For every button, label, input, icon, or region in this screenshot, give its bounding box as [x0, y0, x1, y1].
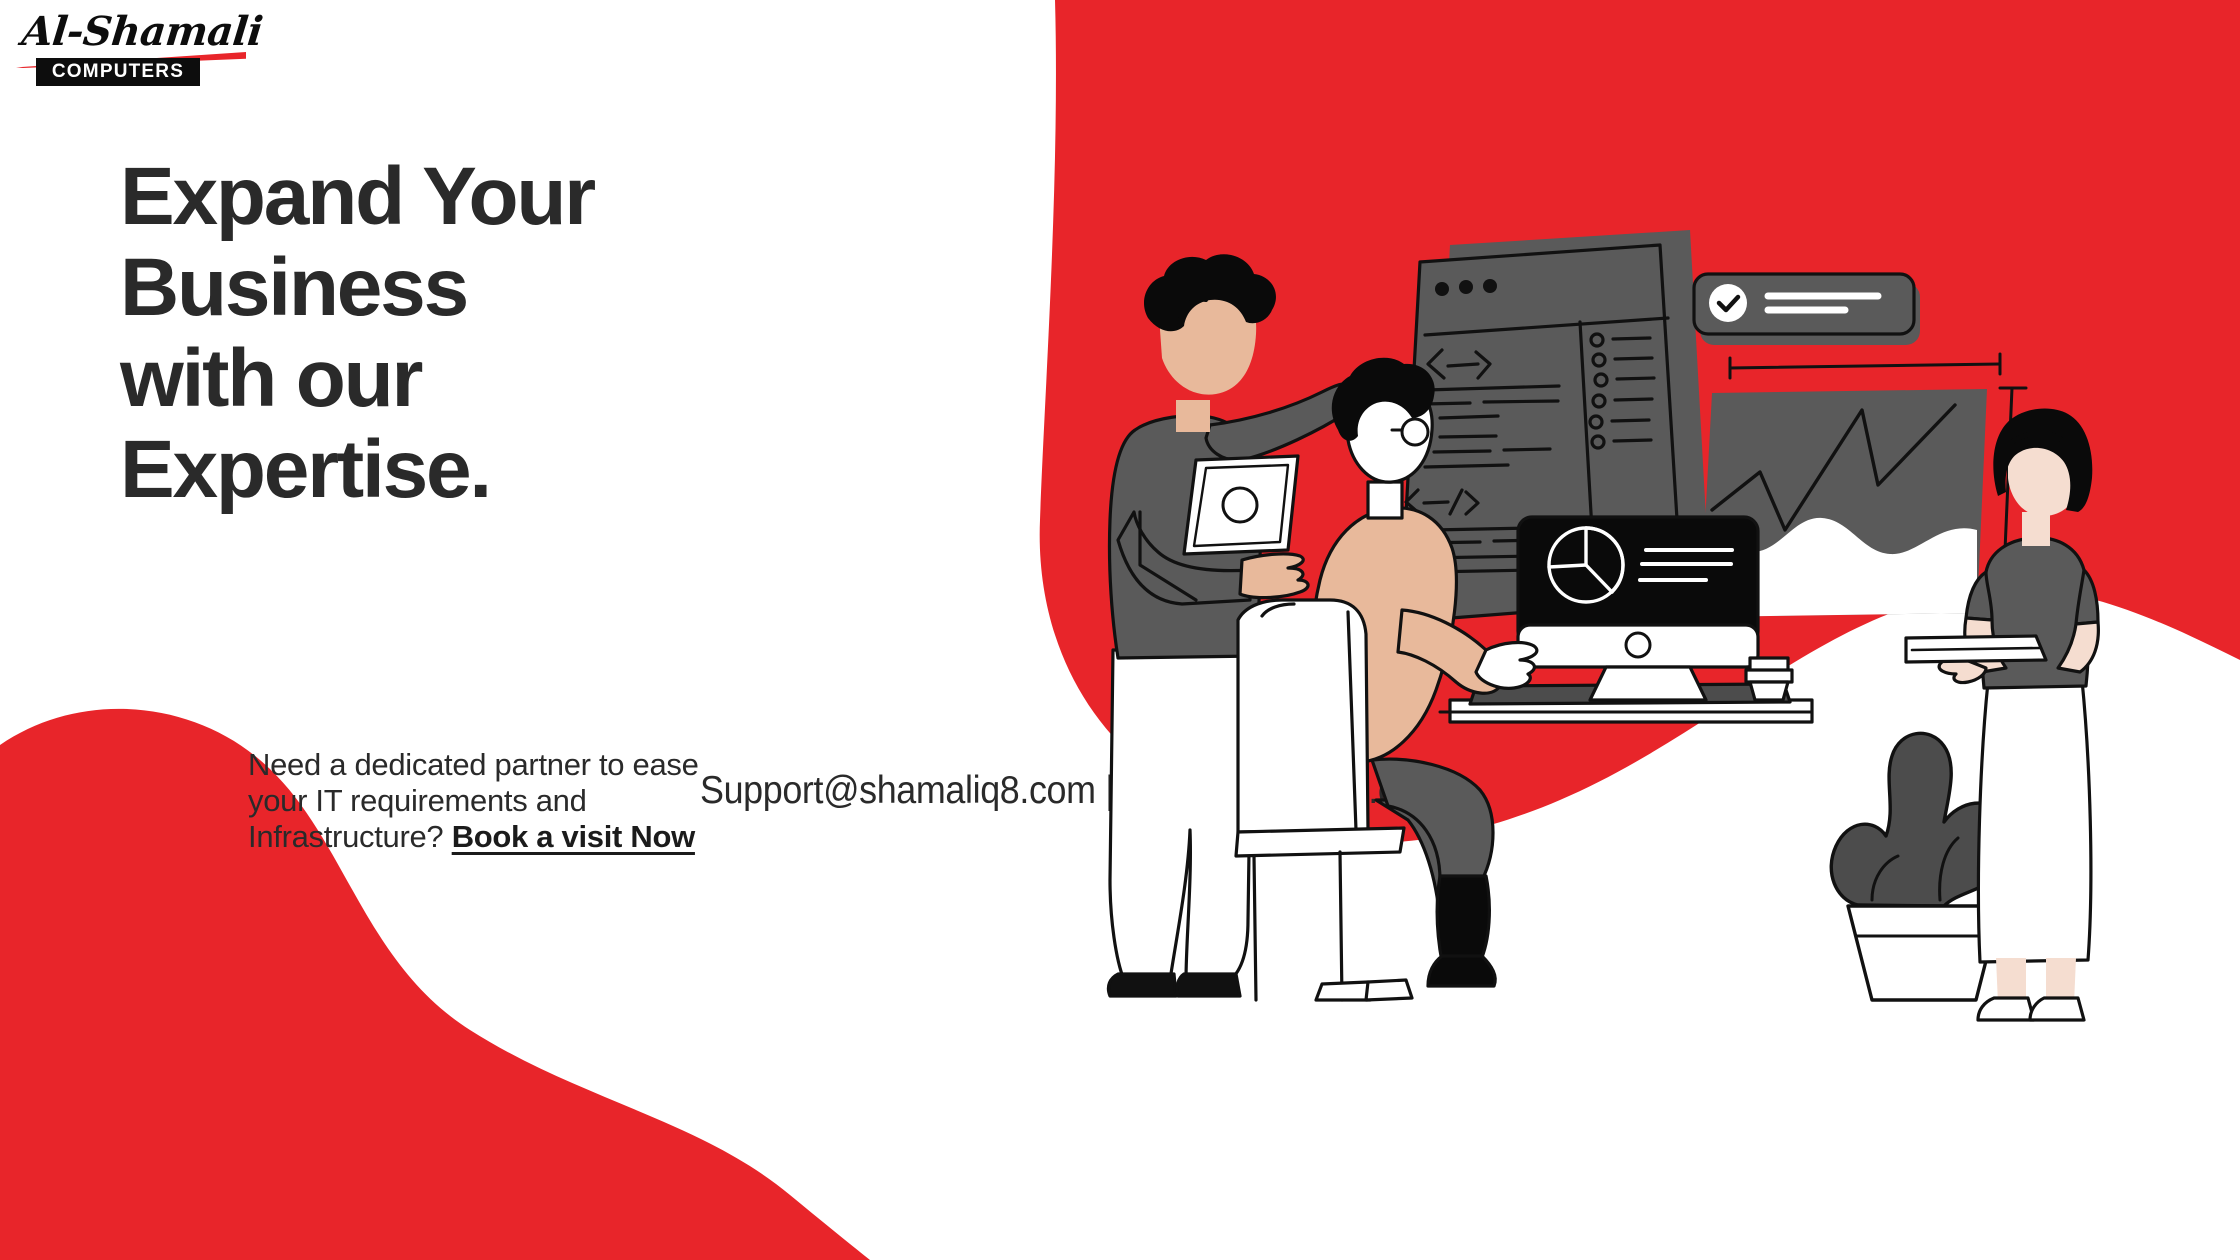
marketing-banner: Al-Shamali COMPUTERS Expand Your Busines… — [0, 0, 2240, 1260]
coffee-cup — [1746, 658, 1792, 700]
notification-card — [1694, 274, 1920, 345]
check-circle-icon — [1709, 284, 1747, 322]
hero-illustration — [0, 0, 2240, 1260]
desktop-monitor — [1518, 517, 1758, 700]
